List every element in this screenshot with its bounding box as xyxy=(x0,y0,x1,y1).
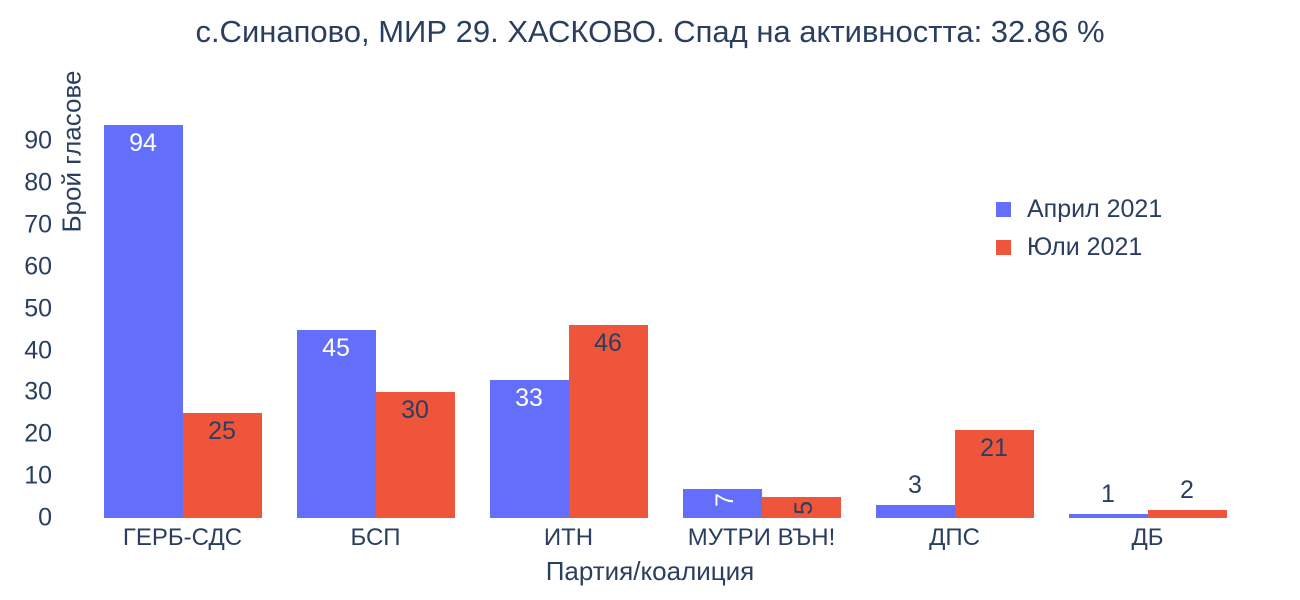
plot-area: 9425453033467532112 xyxy=(86,112,1244,518)
bar-value-label: 33 xyxy=(490,386,569,411)
legend-swatch-icon xyxy=(996,240,1011,255)
bar[interactable]: 2 xyxy=(1148,510,1227,518)
bar[interactable]: 5 xyxy=(762,497,841,518)
y-tick-label: 80 xyxy=(0,171,52,196)
y-tick-label: 30 xyxy=(0,380,52,405)
bar[interactable]: 1 xyxy=(1069,514,1148,518)
legend-item-0[interactable]: Април 2021 xyxy=(996,190,1162,228)
bar[interactable]: 33 xyxy=(490,380,569,518)
bar-value-label: 25 xyxy=(183,419,262,444)
bar-value-label: 45 xyxy=(297,336,376,361)
chart-legend[interactable]: Април 2021Юли 2021 xyxy=(996,190,1162,266)
y-tick-label: 60 xyxy=(0,254,52,279)
bar-value-label: 7 xyxy=(713,493,738,507)
bar-value-label: 1 xyxy=(1069,482,1148,507)
bar[interactable]: 46 xyxy=(569,325,648,518)
legend-label: Април 2021 xyxy=(1027,195,1162,224)
bar-value-label: 46 xyxy=(569,331,648,356)
bar-chart-figure: с.Синапово, МИР 29. ХАСКОВО. Спад на акт… xyxy=(0,0,1300,600)
bar[interactable]: 25 xyxy=(183,413,262,518)
legend-swatch-icon xyxy=(996,202,1011,217)
page-title: с.Синапово, МИР 29. ХАСКОВО. Спад на акт… xyxy=(0,14,1300,50)
y-tick-label: 10 xyxy=(0,464,52,489)
y-tick-label: 20 xyxy=(0,422,52,447)
y-tick-label: 50 xyxy=(0,296,52,321)
legend-item-1[interactable]: Юли 2021 xyxy=(996,228,1162,266)
bar[interactable]: 3 xyxy=(876,505,955,518)
y-axis-title: Брой гласове xyxy=(57,22,88,282)
bar[interactable]: 7 xyxy=(683,489,762,518)
y-tick-label: 70 xyxy=(0,213,52,238)
bar[interactable]: 30 xyxy=(376,392,455,518)
y-tick-label: 40 xyxy=(0,338,52,363)
bar-value-label: 30 xyxy=(376,398,455,423)
x-axis-title: Партия/коалиция xyxy=(0,556,1300,587)
x-tick-label-4: ДПС xyxy=(929,524,980,552)
bar-value-label: 3 xyxy=(876,473,955,498)
bar-value-label: 5 xyxy=(792,501,817,515)
bar-value-label: 94 xyxy=(104,131,183,156)
bar[interactable]: 45 xyxy=(297,330,376,518)
x-tick-label-1: БСП xyxy=(350,524,400,552)
bar[interactable]: 94 xyxy=(104,125,183,518)
legend-label: Юли 2021 xyxy=(1027,233,1142,262)
bar[interactable]: 21 xyxy=(955,430,1034,518)
x-tick-label-3: МУТРИ ВЪН! xyxy=(688,524,835,552)
x-tick-label-2: ИТН xyxy=(544,524,593,552)
x-tick-label-0: ГЕРБ-СДС xyxy=(123,524,242,552)
bar-value-label: 21 xyxy=(955,436,1034,461)
bar-value-label: 2 xyxy=(1148,478,1227,503)
x-tick-label-5: ДБ xyxy=(1131,524,1163,552)
y-tick-label: 90 xyxy=(0,129,52,154)
y-tick-label: 0 xyxy=(0,506,52,531)
